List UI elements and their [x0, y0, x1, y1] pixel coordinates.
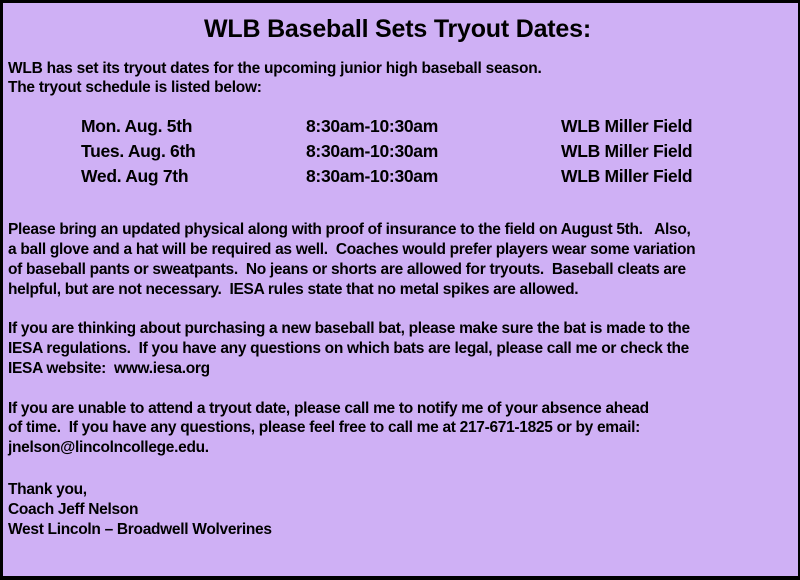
- absence-contact-line-1: If you are unable to attend a tryout dat…: [8, 399, 780, 419]
- signoff-name: Coach Jeff Nelson: [8, 500, 798, 520]
- bat-regulations-line-3: IESA website: www.iesa.org: [8, 359, 780, 379]
- bat-regulations-line-2: IESA regulations. If you have any questi…: [8, 339, 780, 359]
- intro-line-2: The tryout schedule is listed below:: [8, 78, 798, 98]
- intro-paragraph: WLB has set its tryout dates for the upc…: [8, 59, 798, 99]
- equipment-line-4: helpful, but are not necessary. IESA rul…: [8, 280, 780, 300]
- absence-contact-paragraph: If you are unable to attend a tryout dat…: [8, 399, 780, 458]
- absence-contact-line-2: of time. If you have any questions, plea…: [8, 418, 780, 438]
- schedule-day: Tues. Aug. 6th: [3, 140, 306, 165]
- page-title: WLB Baseball Sets Tryout Dates:: [3, 16, 798, 44]
- equipment-line-3: of baseball pants or sweatpants. No jean…: [8, 260, 780, 280]
- equipment-line-1: Please bring an updated physical along w…: [8, 220, 780, 240]
- schedule-location: WLB Miller Field: [561, 165, 781, 190]
- tryout-notice-document: WLB Baseball Sets Tryout Dates: WLB has …: [0, 0, 800, 580]
- bat-regulations-paragraph: If you are thinking about purchasing a n…: [8, 319, 780, 378]
- schedule-location: WLB Miller Field: [561, 115, 781, 140]
- signoff-block: Thank you, Coach Jeff Nelson West Lincol…: [8, 480, 798, 539]
- table-row: Tues. Aug. 6th 8:30am-10:30am WLB Miller…: [3, 140, 781, 165]
- absence-contact-line-3: jnelson@lincolncollege.edu.: [8, 438, 780, 458]
- table-row: Mon. Aug. 5th 8:30am-10:30am WLB Miller …: [3, 115, 781, 140]
- equipment-line-2: a ball glove and a hat will be required …: [8, 240, 780, 260]
- schedule-day: Wed. Aug 7th: [3, 165, 306, 190]
- bat-regulations-line-1: If you are thinking about purchasing a n…: [8, 319, 780, 339]
- signature-block: Coach Jeff Nelson West Lincoln – Broadwe…: [8, 500, 798, 540]
- schedule-time: 8:30am-10:30am: [306, 115, 561, 140]
- schedule-time: 8:30am-10:30am: [306, 165, 561, 190]
- intro-line-1: WLB has set its tryout dates for the upc…: [8, 59, 798, 79]
- signoff-organization: West Lincoln – Broadwell Wolverines: [8, 520, 798, 540]
- signoff-thanks: Thank you,: [8, 480, 798, 500]
- tryout-schedule-table: Mon. Aug. 5th 8:30am-10:30am WLB Miller …: [3, 115, 781, 190]
- schedule-time: 8:30am-10:30am: [306, 140, 561, 165]
- equipment-paragraph: Please bring an updated physical along w…: [8, 220, 780, 299]
- schedule-day: Mon. Aug. 5th: [3, 115, 306, 140]
- schedule-location: WLB Miller Field: [561, 140, 781, 165]
- table-row: Wed. Aug 7th 8:30am-10:30am WLB Miller F…: [3, 165, 781, 190]
